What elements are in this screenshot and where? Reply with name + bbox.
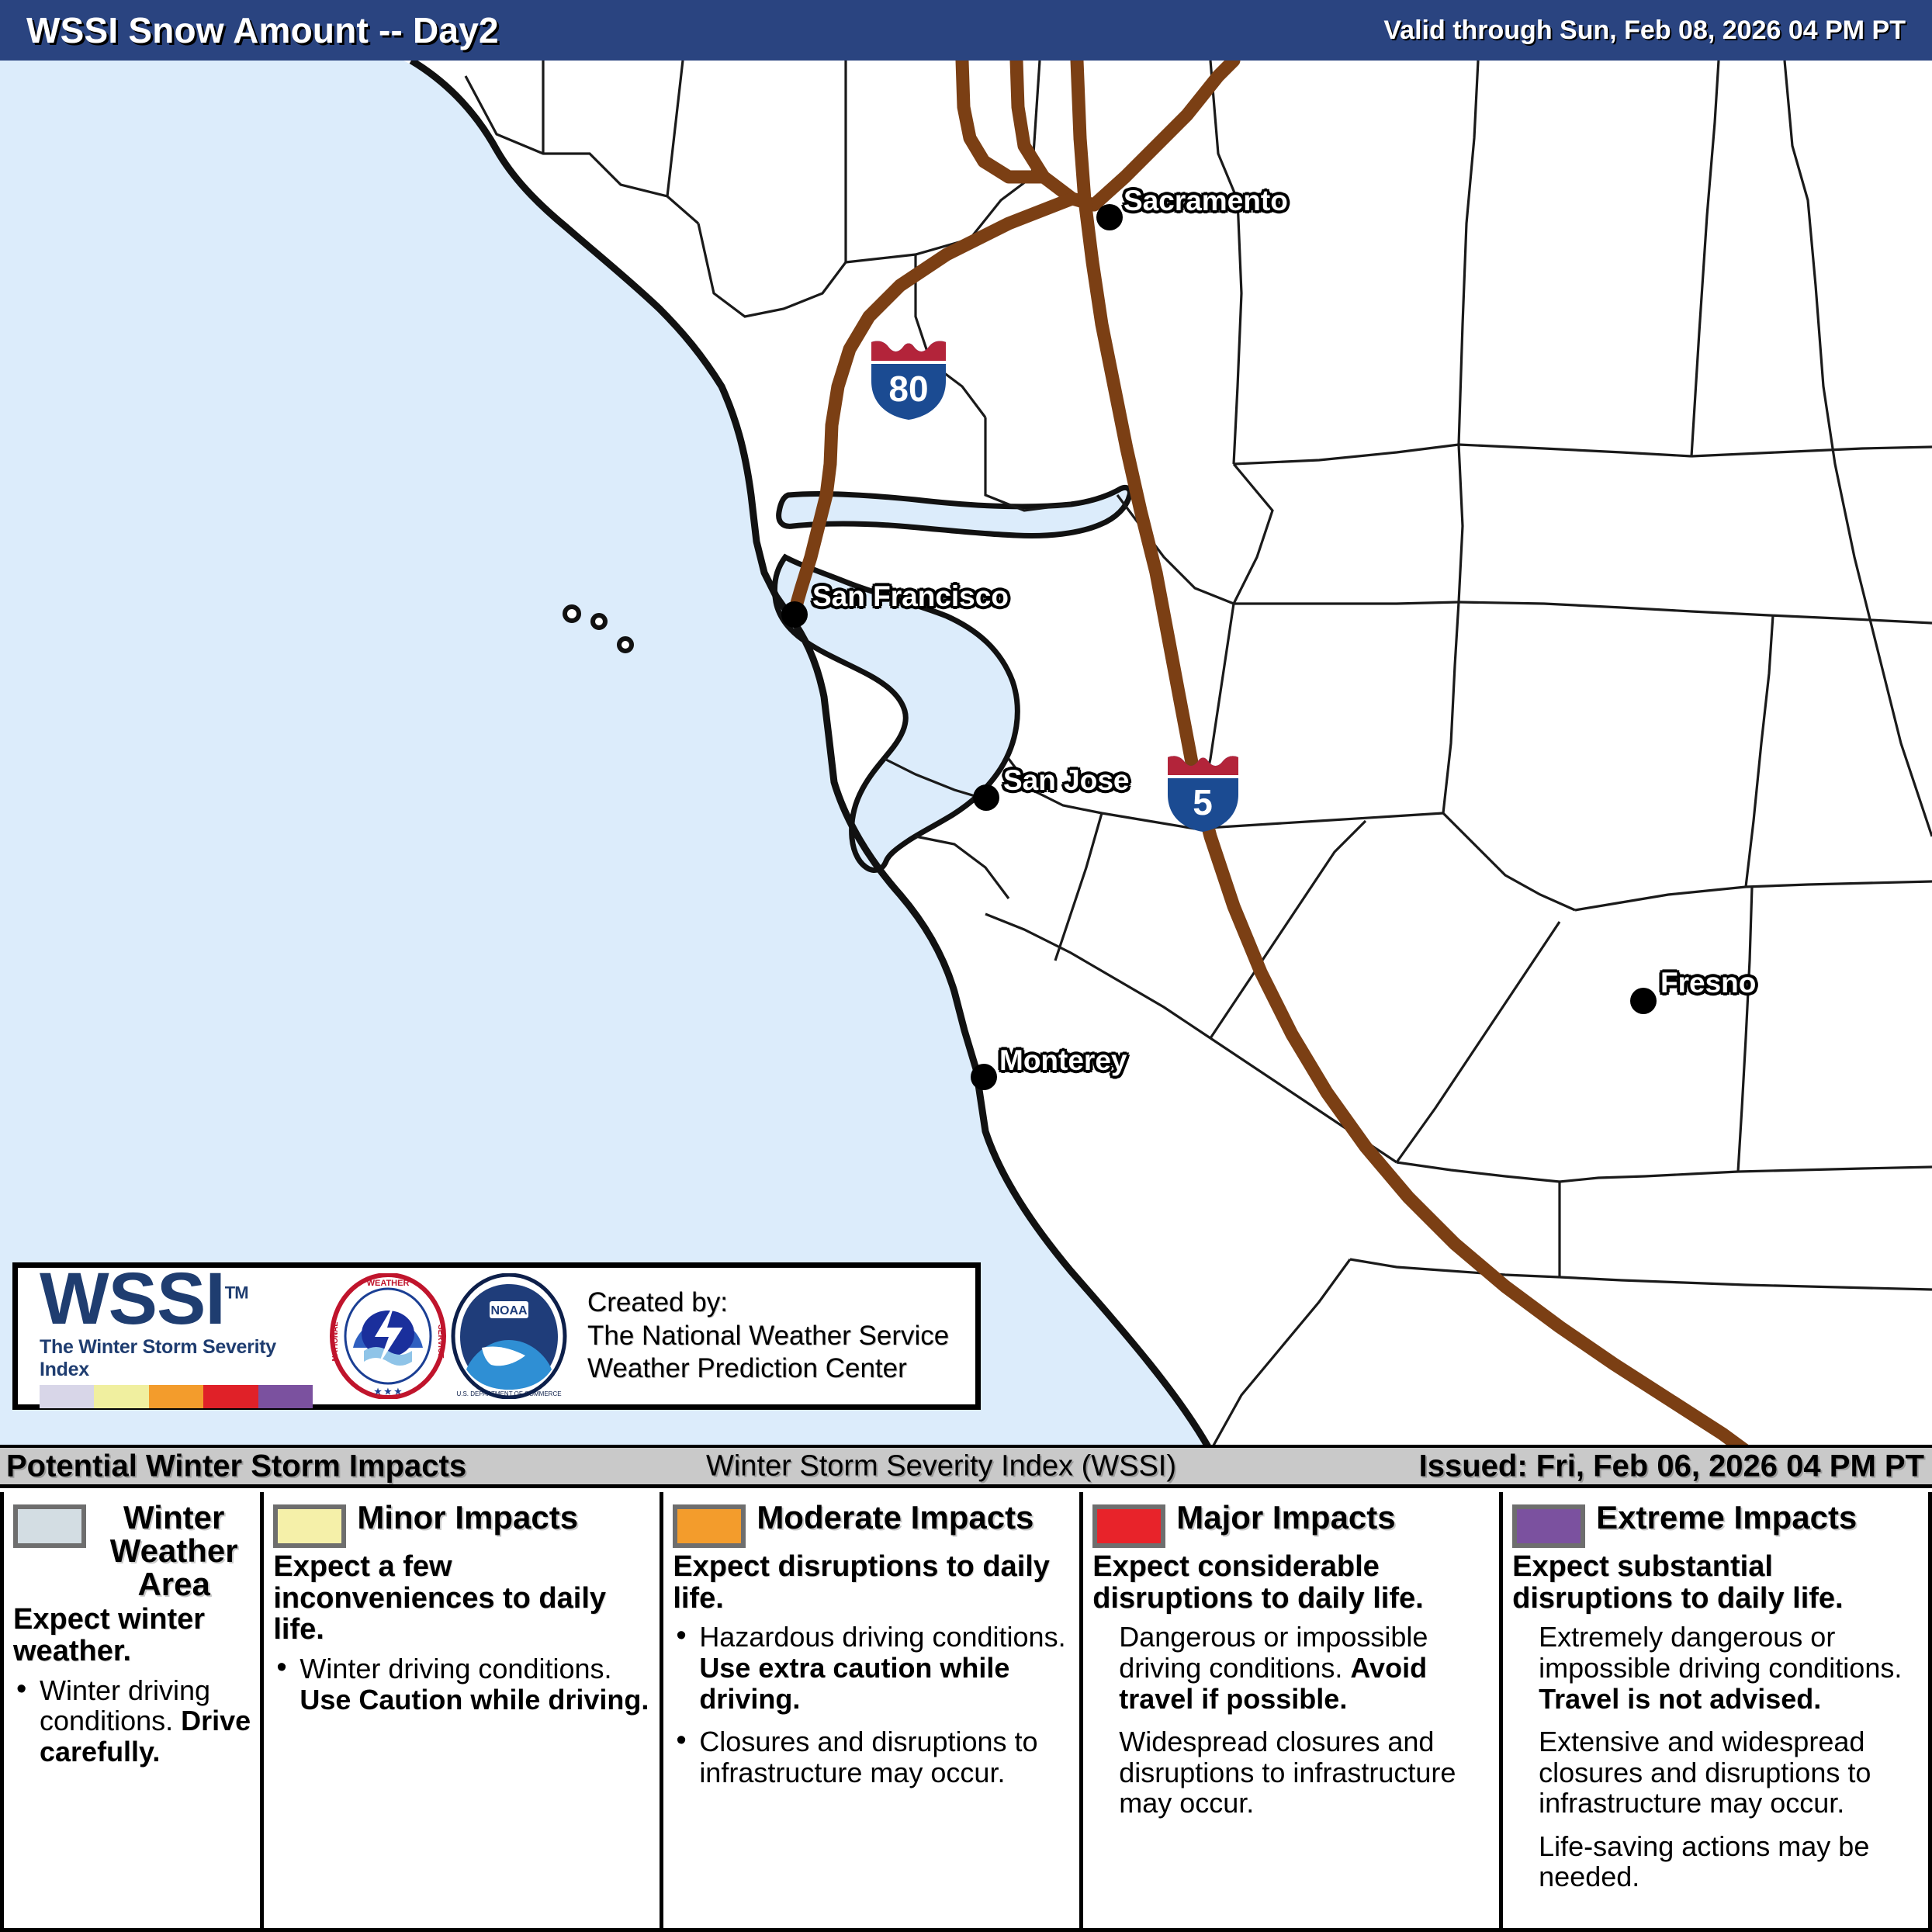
svg-text:NATIONAL: NATIONAL xyxy=(331,1322,340,1362)
city-dot-fresno xyxy=(1630,988,1657,1014)
svg-text:SERVICE: SERVICE xyxy=(436,1324,445,1359)
legend-column-extreme-impacts: Extreme ImpactsExpect substantial disrup… xyxy=(1503,1492,1928,1928)
city-label-san-francisco: San Francisco xyxy=(812,580,1009,613)
svg-text:U.S. DEPARTMENT OF COMMERCE: U.S. DEPARTMENT OF COMMERCE xyxy=(456,1390,561,1397)
page-title: WSSI Snow Amount -- Day2 xyxy=(26,9,499,51)
map-canvas[interactable]: Sacramento San Francisco San Jose Fresno… xyxy=(0,61,1932,1451)
legend-category-label: Minor Impacts xyxy=(357,1501,578,1535)
legend-header: Extreme Impacts xyxy=(1512,1501,1919,1548)
island-3 xyxy=(619,639,632,651)
legend-bullet-list: Winter driving conditions. Drive careful… xyxy=(13,1675,251,1768)
nws-seal-icon: WEATHER ★ ★ ★ NATIONAL SERVICE xyxy=(330,1273,446,1399)
impacts-header-bar: Potential Winter Storm Impacts Winter St… xyxy=(0,1445,1932,1488)
legend-bullet: Life-saving actions may be needed. xyxy=(1512,1831,1919,1892)
wssi-bar-swatch-3 xyxy=(203,1385,258,1408)
credit-line-3: Weather Prediction Center xyxy=(587,1352,949,1386)
legend-swatch xyxy=(13,1504,86,1548)
legend-header: Major Impacts xyxy=(1092,1501,1490,1548)
legend-swatch xyxy=(1512,1504,1585,1548)
city-label-sacramento: Sacramento xyxy=(1124,185,1288,217)
wssi-color-bar xyxy=(40,1385,313,1408)
legend-swatch xyxy=(273,1504,346,1548)
svg-text:★ ★ ★: ★ ★ ★ xyxy=(374,1387,402,1397)
noaa-seal-icon: NOAA U.S. DEPARTMENT OF COMMERCE xyxy=(451,1273,567,1399)
city-dot-sacramento xyxy=(1096,204,1123,230)
svg-text:NOAA: NOAA xyxy=(490,1304,528,1317)
city-dot-san-francisco xyxy=(781,601,808,628)
valid-through-text: Valid through Sun, Feb 08, 2026 04 PM PT xyxy=(1383,16,1906,46)
legend-lead-text: Expect considerable disruptions to daily… xyxy=(1092,1551,1490,1614)
legend-lead-text: Expect disruptions to daily life. xyxy=(673,1551,1070,1614)
legend-header: Minor Impacts xyxy=(273,1501,650,1548)
legend-column-moderate-impacts: Moderate ImpactsExpect disruptions to da… xyxy=(663,1492,1083,1928)
wssi-acronym: WSSITM xyxy=(40,1264,322,1334)
legend-lead-text: Expect substantial disruptions to daily … xyxy=(1512,1551,1919,1614)
legend-lead-text: Expect a few inconveniences to daily lif… xyxy=(273,1551,650,1646)
agency-seals: WEATHER ★ ★ ★ NATIONAL SERVICE NOAA U.S.… xyxy=(330,1273,567,1399)
wssi-trademark-symbol: TM xyxy=(225,1283,248,1303)
impacts-legend: Winter Weather AreaExpect winter weather… xyxy=(0,1492,1932,1932)
legend-swatch xyxy=(673,1504,746,1548)
legend-bullet-list: Dangerous or impossible driving conditio… xyxy=(1092,1622,1490,1819)
legend-category-label: Winter Weather Area xyxy=(97,1501,251,1601)
legend-header: Winter Weather Area xyxy=(13,1501,251,1601)
credit-line-1: Created by: xyxy=(587,1286,949,1320)
city-label-fresno: Fresno xyxy=(1660,967,1756,999)
map-geometry xyxy=(0,61,1932,1451)
city-dot-san-jose xyxy=(973,784,999,811)
wssi-bar-swatch-4 xyxy=(258,1385,313,1408)
svg-text:WEATHER: WEATHER xyxy=(367,1279,410,1288)
legend-bullet: Dangerous or impossible driving conditio… xyxy=(1092,1622,1490,1714)
svg-text:5: 5 xyxy=(1193,782,1213,822)
legend-bullet: Hazardous driving conditions. Use extra … xyxy=(673,1622,1070,1714)
wssi-subtitle: The Winter Storm Severity Index xyxy=(40,1336,322,1381)
legend-category-label: Moderate Impacts xyxy=(757,1501,1034,1535)
legend-bullet-list: Extremely dangerous or impossible drivin… xyxy=(1512,1622,1919,1892)
credit-line-2: The National Weather Service xyxy=(587,1320,949,1353)
legend-bullet: Winter driving conditions. Drive careful… xyxy=(13,1675,251,1768)
wssi-bar-swatch-1 xyxy=(94,1385,148,1408)
svg-text:80: 80 xyxy=(888,369,928,409)
island-1 xyxy=(565,607,579,621)
legend-lead-text: Expect winter weather. xyxy=(13,1604,251,1667)
legend-bullet-list: Hazardous driving conditions. Use extra … xyxy=(673,1622,1070,1788)
legend-bullet-list: Winter driving conditions. Use Caution w… xyxy=(273,1653,650,1715)
legend-swatch xyxy=(1092,1504,1165,1548)
legend-bullet: Extensive and widespread closures and di… xyxy=(1512,1726,1919,1819)
header-bar: WSSI Snow Amount -- Day2 Valid through S… xyxy=(0,0,1932,61)
legend-column-major-impacts: Major ImpactsExpect considerable disrupt… xyxy=(1083,1492,1503,1928)
legend-column-minor-impacts: Minor ImpactsExpect a few inconveniences… xyxy=(264,1492,663,1928)
legend-category-label: Major Impacts xyxy=(1176,1501,1395,1535)
i5-north xyxy=(1077,61,1080,138)
wssi-fullname-text: Winter Storm Severity Index (WSSI) xyxy=(706,1449,1176,1483)
legend-bullet: Closures and disruptions to infrastructu… xyxy=(673,1726,1070,1788)
city-label-monterey: Monterey xyxy=(999,1044,1127,1077)
credit-text: Created by: The National Weather Service… xyxy=(587,1286,949,1386)
wssi-wordmark: WSSITM The Winter Storm Severity Index xyxy=(18,1264,322,1407)
wssi-bar-swatch-0 xyxy=(40,1385,94,1408)
issued-text: Issued: Fri, Feb 06, 2026 04 PM PT xyxy=(1419,1449,1924,1484)
impacts-title: Potential Winter Storm Impacts xyxy=(6,1449,466,1484)
island-2 xyxy=(593,615,605,628)
city-dot-monterey xyxy=(971,1064,997,1090)
wssi-map-page: WSSI Snow Amount -- Day2 Valid through S… xyxy=(0,0,1932,1932)
legend-bullet: Winter driving conditions. Use Caution w… xyxy=(273,1653,650,1715)
legend-bullet: Extremely dangerous or impossible drivin… xyxy=(1512,1622,1919,1714)
wssi-bar-swatch-2 xyxy=(149,1385,203,1408)
city-label-san-jose: San Jose xyxy=(1003,764,1129,797)
legend-category-label: Extreme Impacts xyxy=(1596,1501,1857,1535)
legend-header: Moderate Impacts xyxy=(673,1501,1070,1548)
legend-bullet: Widespread closures and disruptions to i… xyxy=(1092,1726,1490,1819)
wssi-logo-box: WSSITM The Winter Storm Severity Index W… xyxy=(12,1262,981,1410)
legend-column-winter-weather-area: Winter Weather AreaExpect winter weather… xyxy=(4,1492,264,1928)
